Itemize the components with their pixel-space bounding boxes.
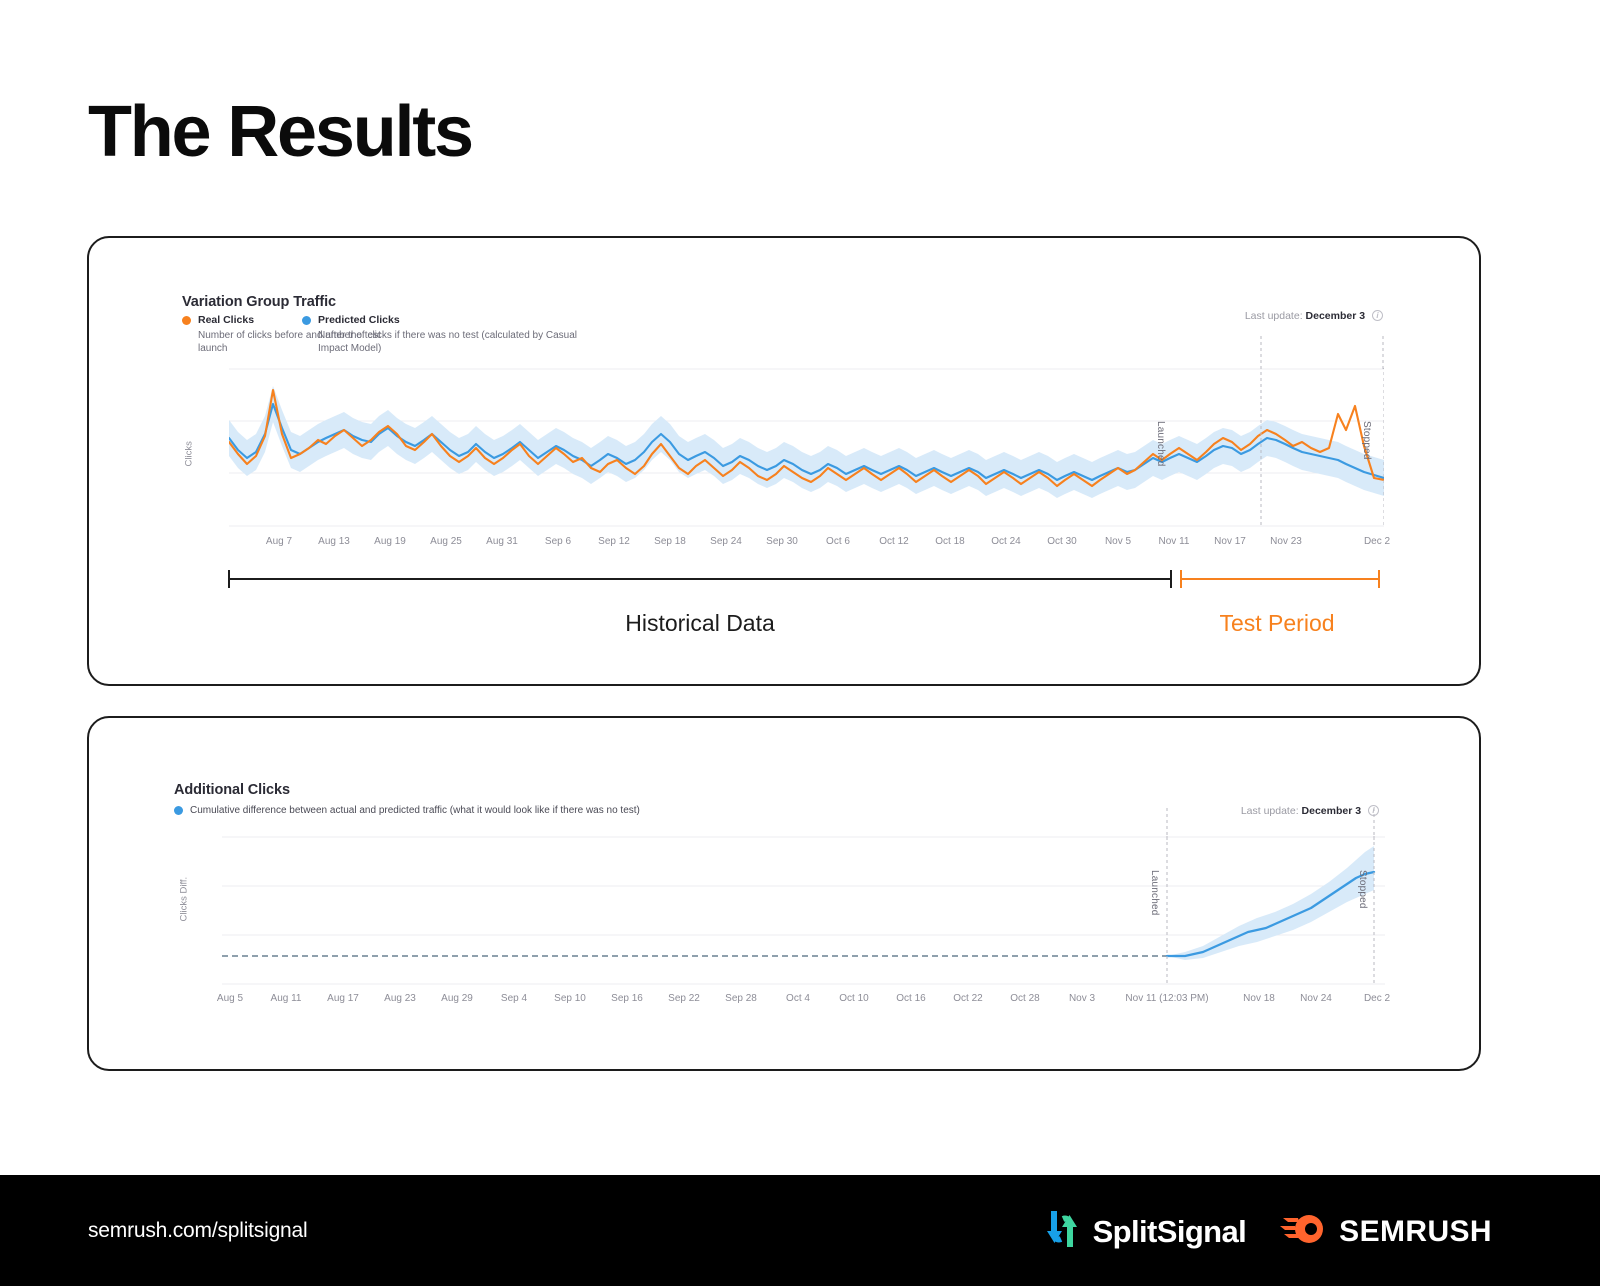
page-title: The Results [88,96,472,168]
xtick: Oct 6 [826,536,850,547]
semrush-comet-svg [1280,1209,1328,1249]
xtick: Oct 30 [1047,536,1076,547]
xtick: Dec 2 [1364,536,1390,547]
test-period-bracket [1180,570,1380,590]
xtick: Nov 18 [1243,993,1275,1004]
additional-chart-svg [222,836,1385,986]
xtick: Sep 6 [545,536,571,547]
real-clicks-dot-icon [182,316,191,325]
xtick: Sep 30 [766,536,798,547]
footer-brands: SplitSignal SEMRUSH [1042,1207,1492,1256]
splitsignal-logo: SplitSignal [1042,1207,1247,1256]
xtick: Nov 23 [1270,536,1302,547]
xtick: Aug 11 [271,993,302,1004]
historical-data-label: Historical Data [625,610,775,637]
traffic-stopped-label: Stopped [1361,421,1372,460]
additional-x-axis: Aug 5 Aug 11 Aug 17 Aug 23 Aug 29 Sep 4 … [222,993,1385,1009]
xtick: Sep 10 [554,993,586,1004]
xtick: Aug 17 [327,993,359,1004]
xtick: Nov 5 [1105,536,1131,547]
traffic-launched-label: Launched [1155,421,1166,467]
xtick: Sep 4 [501,993,527,1004]
semrush-logo: SEMRUSH [1280,1209,1492,1254]
xtick: Oct 24 [991,536,1020,547]
xtick: Oct 10 [839,993,868,1004]
test-period-label: Test Period [1219,610,1334,637]
slide-root: The Results Variation Group Traffic Last… [0,0,1600,1286]
xtick: Aug 29 [441,993,473,1004]
xtick: Sep 18 [654,536,686,547]
additional-clicks-title: Additional Clicks [174,782,290,798]
traffic-marker-extensions [229,336,1384,372]
xtick: Nov 17 [1214,536,1246,547]
traffic-last-update-value: December 3 [1306,310,1366,322]
xtick: Oct 12 [879,536,908,547]
additional-launched-label: Launched [1149,870,1160,916]
additional-clicks-card: Additional Clicks Cumulative difference … [87,716,1481,1071]
xtick: Sep 16 [611,993,643,1004]
xtick: Aug 7 [266,536,292,547]
semrush-comet-logo-icon [1280,1209,1328,1254]
xtick: Oct 18 [935,536,964,547]
historical-data-bracket [228,570,1172,590]
legend-predicted-clicks-label: Predicted Clicks [318,314,400,326]
historical-bracket-cap-left [228,570,230,588]
xtick: Sep 12 [598,536,630,547]
traffic-last-update-prefix: Last update: [1245,310,1303,322]
additional-y-axis-title: Clicks Diff. [179,862,190,922]
predicted-clicks-dot-icon [302,316,311,325]
historical-bracket-cap-right [1170,570,1172,588]
xtick: Oct 16 [896,993,925,1004]
xtick: Aug 13 [318,536,350,547]
xtick: Nov 11 [1159,536,1190,547]
traffic-plot-area[interactable] [229,368,1384,528]
traffic-x-axis: Aug 7 Aug 13 Aug 19 Aug 25 Aug 31 Sep 6 … [229,536,1384,552]
slide-footer: semrush.com/splitsignal SplitSignal [0,1175,1600,1286]
additional-plot-area[interactable] [222,836,1385,986]
xtick: Sep 28 [725,993,757,1004]
xtick: Dec 2 [1364,993,1390,1004]
xtick: Aug 25 [430,536,462,547]
semrush-wordmark: SEMRUSH [1339,1217,1492,1247]
test-period-bracket-cap-right [1378,570,1380,588]
additional-clicks-dot-icon [174,806,183,815]
additional-marker-extensions [222,808,1385,840]
xtick: Oct 28 [1010,993,1039,1004]
splitsignal-wordmark: SplitSignal [1093,1216,1247,1247]
variation-group-traffic-title: Variation Group Traffic [182,294,336,310]
additional-stopped-label: Stopped [1357,870,1368,909]
traffic-y-axis-title: Clicks [184,427,195,467]
xtick: Oct 4 [786,993,810,1004]
splitsignal-arrows-svg [1042,1207,1082,1251]
xtick: Aug 19 [374,536,406,547]
traffic-chart-svg [229,368,1384,528]
xtick: Nov 3 [1069,993,1095,1004]
legend-real-clicks-label: Real Clicks [198,314,254,326]
xtick: Nov 24 [1300,993,1332,1004]
xtick: Sep 24 [710,536,742,547]
historical-bracket-line [228,578,1172,580]
xtick: Nov 11 (12:03 PM) [1125,993,1208,1004]
xtick: Aug 23 [384,993,416,1004]
splitsignal-arrows-logo-icon [1042,1207,1082,1256]
legend-predicted-clicks-head: Predicted Clicks [302,314,578,326]
test-period-bracket-cap-left [1180,570,1182,588]
traffic-last-update: Last update: December 3 i [1245,310,1383,322]
xtick: Aug 31 [486,536,518,547]
footer-url[interactable]: semrush.com/splitsignal [88,1219,307,1243]
info-icon[interactable]: i [1372,310,1383,321]
test-period-bracket-line [1180,578,1380,580]
xtick: Aug 5 [217,993,243,1004]
xtick: Sep 22 [668,993,700,1004]
additional-confidence-band [1167,846,1374,960]
xtick: Oct 22 [953,993,982,1004]
